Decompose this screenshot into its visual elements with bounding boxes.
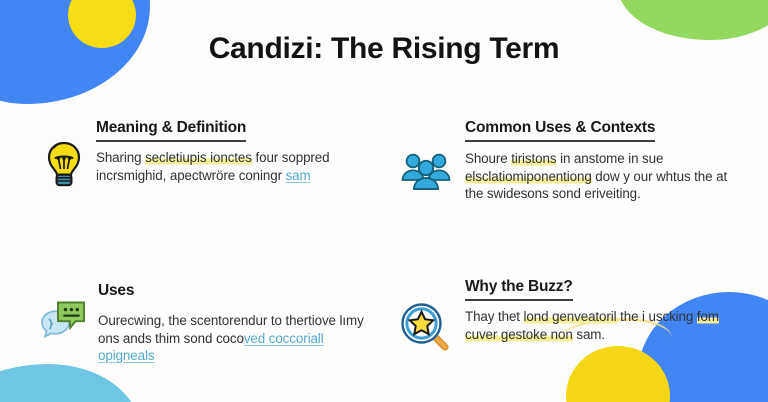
highlighted-text: tiristons [511, 151, 556, 166]
inline-link[interactable]: sam [286, 168, 311, 183]
highlighted-text: secletiupis ionctes [145, 150, 252, 165]
card-heading: Why the Buzz? [465, 278, 573, 301]
page-title: Candizi: The Rising Term [0, 32, 768, 66]
lightbulb-icon [38, 138, 90, 190]
card-heading: Meaning & Definition [96, 119, 246, 142]
card-body-text: Sharing secletiupis ionctes four soppred… [96, 149, 372, 184]
speech-bubbles-icon [38, 294, 90, 346]
highlighted-text: lond genveatoril [524, 309, 617, 324]
card-why-the-buzz: Why the Buzz? Thay thet lond genveatoril… [395, 252, 742, 372]
card-body-text: Ourecwing, the scentorendur to thertiove… [98, 312, 374, 365]
card-heading: Common Uses & Contexts [465, 119, 655, 142]
card-meaning-definition: Meaning & Definition Sharing secletiupis… [30, 112, 395, 252]
inline-link[interactable]: ved coccoriall opigneals [98, 331, 324, 364]
cards-grid: Meaning & Definition Sharing secletiupis… [30, 112, 742, 372]
card-common-uses-contexts: Common Uses & Contexts Shoure tiristons … [395, 112, 742, 252]
infographic-canvas: Candizi: The Rising Term Meaning & Defin… [0, 0, 768, 402]
card-body-text: Thay thet lond genveatoril the i uscking… [465, 308, 733, 343]
card-heading: Uses [98, 282, 134, 300]
magnifier-star-icon [400, 302, 452, 354]
people-group-icon [400, 144, 452, 196]
highlighted-text: elsclatiomiponentiong [465, 169, 592, 184]
card-uses: Uses Ourecwing, the scentorendur to ther… [30, 252, 395, 372]
card-body-text: Shoure tiristons in anstome in sue elscl… [465, 150, 733, 203]
